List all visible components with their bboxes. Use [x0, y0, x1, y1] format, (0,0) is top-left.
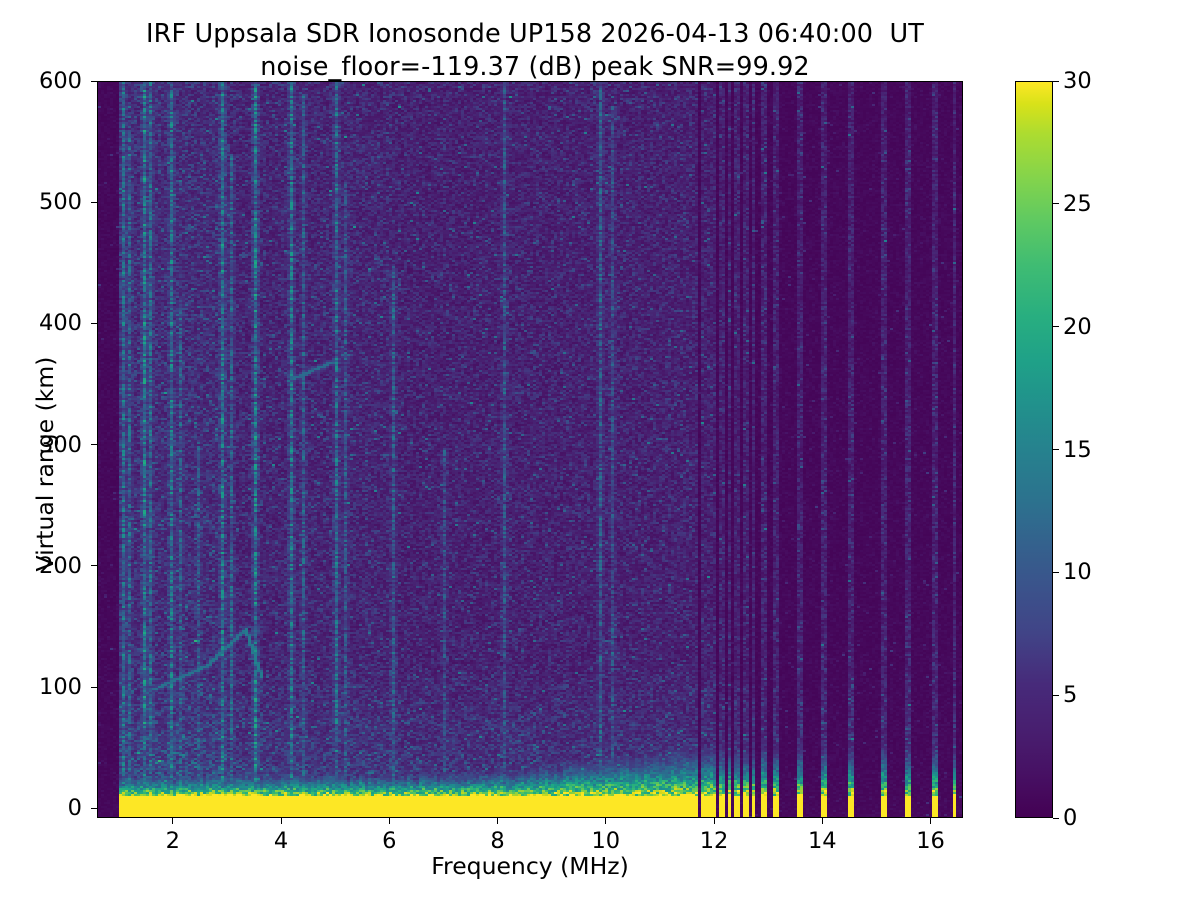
colorbar-tick-mark-15 — [1053, 449, 1059, 450]
x-tick-mark-2 — [172, 818, 173, 824]
colorbar-tick-label-30: 30 — [1063, 68, 1123, 94]
x-tick-mark-10 — [605, 818, 606, 824]
y-tick-mark-500 — [91, 202, 97, 203]
ionogram-heatmap — [98, 82, 963, 818]
colorbar-tick-mark-25 — [1053, 203, 1059, 204]
colorbar-tick-label-15: 15 — [1063, 437, 1123, 463]
colorbar-tick-label-25: 25 — [1063, 191, 1123, 217]
x-tick-label-12: 12 — [700, 828, 729, 854]
colorbar-tick-label-5: 5 — [1063, 682, 1123, 708]
x-tick-label-6: 6 — [382, 828, 396, 854]
y-tick-label-600: 600 — [2, 68, 82, 94]
y-tick-mark-600 — [91, 81, 97, 82]
colorbar-tick-label-20: 20 — [1063, 314, 1123, 340]
x-tick-label-10: 10 — [591, 828, 620, 854]
x-tick-mark-8 — [497, 818, 498, 824]
y-tick-label-500: 500 — [2, 189, 82, 215]
y-tick-mark-300 — [91, 444, 97, 445]
x-tick-mark-4 — [281, 818, 282, 824]
x-tick-mark-16 — [930, 818, 931, 824]
x-tick-mark-6 — [389, 818, 390, 824]
colorbar-tick-mark-10 — [1053, 572, 1059, 573]
y-tick-mark-200 — [91, 565, 97, 566]
figure-title: IRF Uppsala SDR Ionosonde UP158 2026-04-… — [0, 18, 1070, 84]
x-tick-mark-12 — [714, 818, 715, 824]
y-tick-label-0: 0 — [2, 795, 82, 821]
x-tick-label-8: 8 — [490, 828, 504, 854]
colorbar-tick-mark-30 — [1053, 81, 1059, 82]
y-axis-label: Virtual range (km) — [31, 214, 59, 714]
y-tick-mark-100 — [91, 687, 97, 688]
x-tick-label-14: 14 — [808, 828, 837, 854]
x-tick-label-16: 16 — [916, 828, 945, 854]
colorbar-tick-mark-20 — [1053, 326, 1059, 327]
colorbar — [1015, 81, 1053, 818]
x-tick-mark-14 — [822, 818, 823, 824]
plot-area — [97, 81, 963, 818]
y-tick-mark-400 — [91, 323, 97, 324]
colorbar-tick-label-0: 0 — [1063, 805, 1123, 831]
title-line-1: IRF Uppsala SDR Ionosonde UP158 2026-04-… — [0, 18, 1070, 51]
colorbar-tick-label-10: 10 — [1063, 559, 1123, 585]
colorbar-tick-mark-5 — [1053, 695, 1059, 696]
title-line-2: noise_floor=-119.37 (dB) peak SNR=99.92 — [0, 51, 1070, 84]
ionogram-figure: IRF Uppsala SDR Ionosonde UP158 2026-04-… — [0, 0, 1200, 900]
x-tick-label-4: 4 — [274, 828, 288, 854]
colorbar-tick-mark-0 — [1053, 818, 1059, 819]
y-tick-mark-0 — [91, 808, 97, 809]
x-tick-label-2: 2 — [166, 828, 180, 854]
x-axis-label: Frequency (MHz) — [97, 852, 963, 880]
